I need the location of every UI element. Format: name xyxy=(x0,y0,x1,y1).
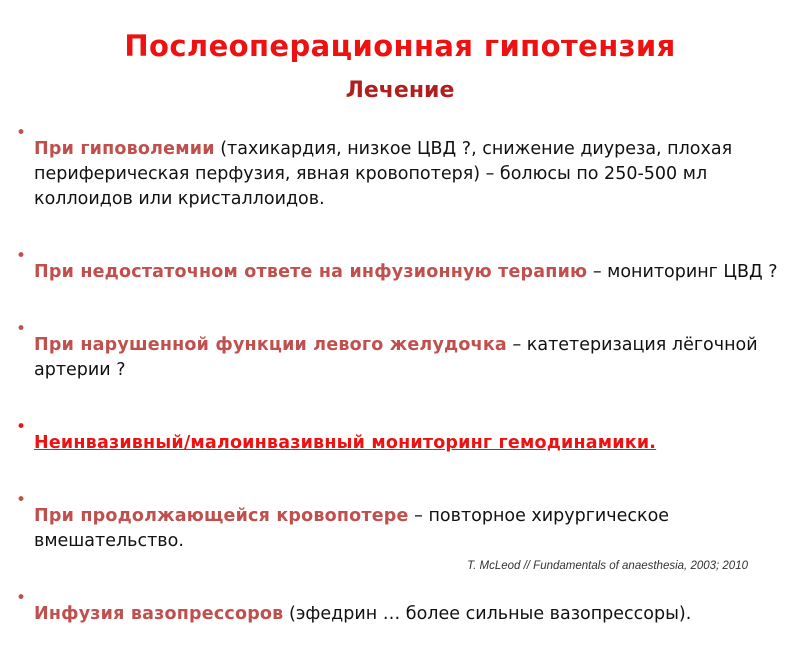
list-item: • При гиповолемии (тахикардия, низкое ЦВ… xyxy=(12,120,786,230)
list-item: • Инфузия вазопрессоров (эфедрин … более… xyxy=(12,585,786,645)
list-item-emphasis: При продолжающейся кровопотере xyxy=(34,506,409,526)
list-item-text: При продолжающейся кровопотере – повторн… xyxy=(34,504,786,554)
list-item-emphasis: Неинвазивный/малоинвазивный мониторинг г… xyxy=(34,433,656,453)
list-item-body: – мониторинг ЦВД ? xyxy=(587,262,777,282)
list-item-text: Инфузия вазопрессоров (эфедрин … более с… xyxy=(34,602,786,627)
bullet-marker-icon: • xyxy=(12,316,34,342)
slide-canvas: Послеоперационная гипотензия Лечение • П… xyxy=(0,0,800,600)
list-item-emphasis: При гиповолемии xyxy=(34,139,215,159)
list-item: • При продолжающейся кровопотере – повто… xyxy=(12,487,786,572)
list-item-text: При недостаточном ответе на инфузионную … xyxy=(34,260,786,285)
bullet-marker-icon: • xyxy=(12,414,34,440)
bullet-marker-icon: • xyxy=(12,487,34,513)
list-item-text: Неинвазивный/малоинвазивный мониторинг г… xyxy=(34,431,786,456)
page-subtitle: Лечение xyxy=(0,79,800,103)
list-item-text: При гиповолемии (тахикардия, низкое ЦВД … xyxy=(34,137,786,212)
list-item-body: (эфедрин … более сильные вазопрессоры). xyxy=(283,604,691,624)
list-item-emphasis: При недостаточном ответе на инфузионную … xyxy=(34,262,587,282)
list-item-text: При нарушенной функции левого желудочка … xyxy=(34,333,786,383)
bullet-marker-icon: • xyxy=(12,120,34,146)
list-item: • При нарушенной функции левого желудочк… xyxy=(12,316,786,401)
list-item: • При недостаточном ответе на инфузионну… xyxy=(12,243,786,303)
source-citation: T. McLeod // Fundamentals of anaesthesia… xyxy=(467,560,748,572)
bullet-marker-icon: • xyxy=(12,585,34,611)
list-item-emphasis: При нарушенной функции левого желудочка xyxy=(34,335,507,355)
list-item-emphasis: Инфузия вазопрессоров xyxy=(34,604,283,624)
list-item-highlighted: • Неинвазивный/малоинвазивный мониторинг… xyxy=(12,414,786,474)
title-block: Послеоперационная гипотензия Лечение xyxy=(0,0,800,104)
page-title: Послеоперационная гипотензия xyxy=(0,30,800,63)
bullet-marker-icon: • xyxy=(12,243,34,269)
